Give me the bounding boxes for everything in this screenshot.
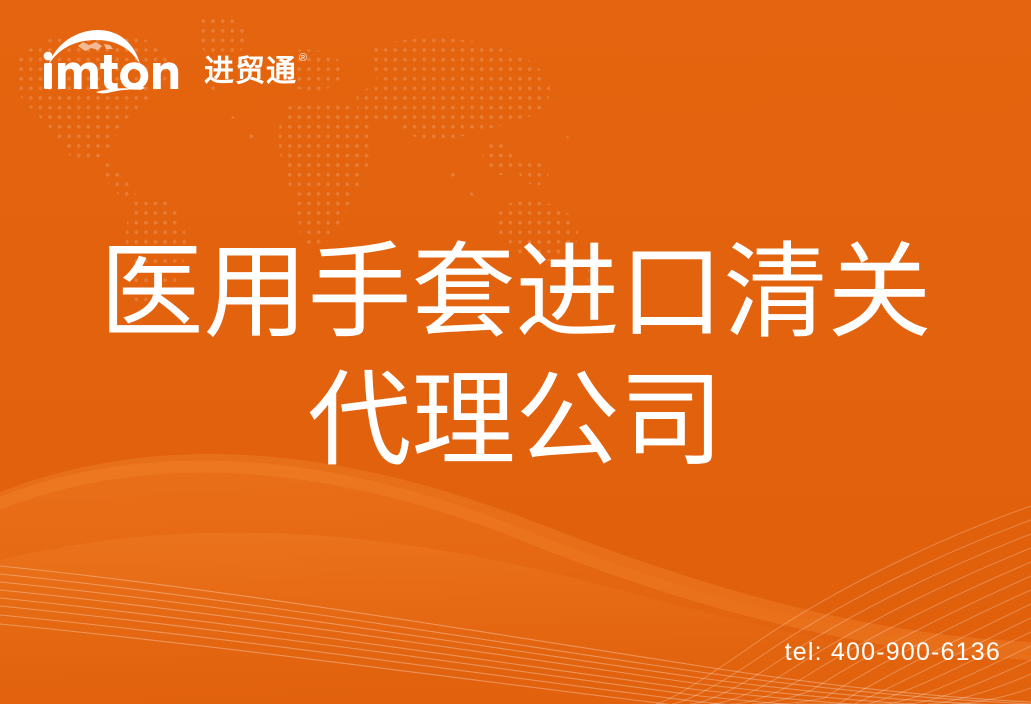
wordmark-imton — [44, 52, 179, 90]
brand-logo[interactable]: 进贸通 ® — [38, 26, 311, 98]
globe-arc-icon — [48, 30, 140, 66]
logo-chinese-name: 进贸通 — [204, 57, 297, 87]
swoosh-icon — [96, 86, 145, 93]
headline-line-2: 代理公司 — [0, 356, 1031, 484]
logo-mark — [38, 26, 210, 98]
registered-trademark-icon: ® — [299, 53, 307, 64]
headline-line-1: 医用手套进口清关 — [0, 228, 1031, 356]
contact-phone[interactable]: tel: 400-900-6136 — [785, 638, 1001, 667]
promo-banner: 进贸通 ® 医用手套进口清关 代理公司 tel: 400-900-6136 — [0, 0, 1031, 704]
page-title: 医用手套进口清关 代理公司 — [0, 228, 1031, 484]
